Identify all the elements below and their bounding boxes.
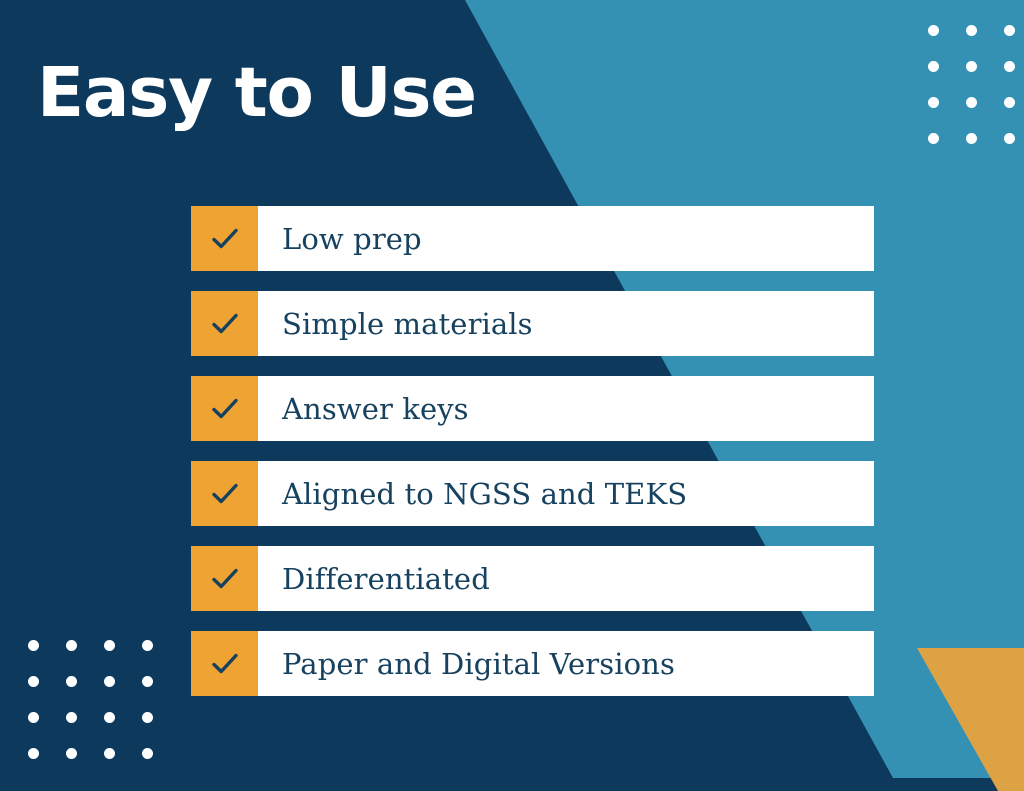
- dot: [142, 640, 153, 651]
- dot-cell: [952, 12, 990, 48]
- dot-grid-top-right: [914, 12, 1024, 156]
- checklist-item[interactable]: Paper and Digital Versions: [191, 631, 874, 696]
- checklist-item-label: Answer keys: [258, 376, 874, 441]
- dot-cell: [952, 48, 990, 84]
- dot: [104, 676, 115, 687]
- checklist-item-label: Differentiated: [258, 546, 874, 611]
- checklist-item[interactable]: Low prep: [191, 206, 874, 271]
- dot: [142, 712, 153, 723]
- dot-cell: [128, 663, 166, 699]
- dot: [66, 676, 77, 687]
- checklist-item[interactable]: Aligned to NGSS and TEKS: [191, 461, 874, 526]
- dot-grid-bottom-left: [14, 627, 166, 771]
- dot-cell: [128, 699, 166, 735]
- dot-cell: [90, 735, 128, 771]
- dot-cell: [914, 12, 952, 48]
- dot: [28, 676, 39, 687]
- dot: [28, 640, 39, 651]
- dot: [66, 748, 77, 759]
- check-icon: [191, 206, 258, 271]
- dot: [928, 97, 939, 108]
- dot-cell: [914, 120, 952, 156]
- dot-cell: [990, 120, 1024, 156]
- dot: [104, 640, 115, 651]
- checklist-item-label: Low prep: [258, 206, 874, 271]
- dot: [1004, 133, 1015, 144]
- dot-cell: [14, 735, 52, 771]
- dot-cell: [952, 84, 990, 120]
- checklist-item-label: Aligned to NGSS and TEKS: [258, 461, 874, 526]
- dot-cell: [990, 84, 1024, 120]
- dot: [1004, 97, 1015, 108]
- dot: [66, 640, 77, 651]
- dot: [966, 133, 977, 144]
- dot-cell: [52, 699, 90, 735]
- dot: [104, 712, 115, 723]
- dot-cell: [90, 699, 128, 735]
- dot-cell: [914, 48, 952, 84]
- dot-cell: [128, 627, 166, 663]
- dot: [1004, 61, 1015, 72]
- dot: [28, 748, 39, 759]
- dot-cell: [990, 12, 1024, 48]
- dot: [142, 748, 153, 759]
- slide-title: Easy to Use: [37, 57, 476, 129]
- orange-triangle: [917, 648, 1024, 791]
- checklist-item-label: Paper and Digital Versions: [258, 631, 874, 696]
- dot: [966, 97, 977, 108]
- dot-cell: [952, 120, 990, 156]
- checklist-item[interactable]: Differentiated: [191, 546, 874, 611]
- dot-cell: [52, 663, 90, 699]
- check-icon: [191, 631, 258, 696]
- dot: [966, 25, 977, 36]
- dot: [928, 133, 939, 144]
- dot-cell: [14, 627, 52, 663]
- dot-cell: [14, 699, 52, 735]
- slide-canvas: Easy to Use Low prep Simple materials: [0, 0, 1024, 791]
- dot: [28, 712, 39, 723]
- dot: [104, 748, 115, 759]
- dot: [966, 61, 977, 72]
- feature-checklist: Low prep Simple materials Answer keys: [191, 206, 874, 696]
- dot-cell: [90, 663, 128, 699]
- dot: [928, 25, 939, 36]
- dot-cell: [128, 735, 166, 771]
- dot: [66, 712, 77, 723]
- dot-cell: [52, 627, 90, 663]
- dot-cell: [990, 48, 1024, 84]
- checklist-item[interactable]: Answer keys: [191, 376, 874, 441]
- dot-cell: [90, 627, 128, 663]
- checklist-item[interactable]: Simple materials: [191, 291, 874, 356]
- check-icon: [191, 376, 258, 441]
- dot: [1004, 25, 1015, 36]
- dot-cell: [52, 735, 90, 771]
- dot-cell: [14, 663, 52, 699]
- dot: [928, 61, 939, 72]
- check-icon: [191, 546, 258, 611]
- checklist-item-label: Simple materials: [258, 291, 874, 356]
- check-icon: [191, 291, 258, 356]
- dot-cell: [914, 84, 952, 120]
- dot: [142, 676, 153, 687]
- check-icon: [191, 461, 258, 526]
